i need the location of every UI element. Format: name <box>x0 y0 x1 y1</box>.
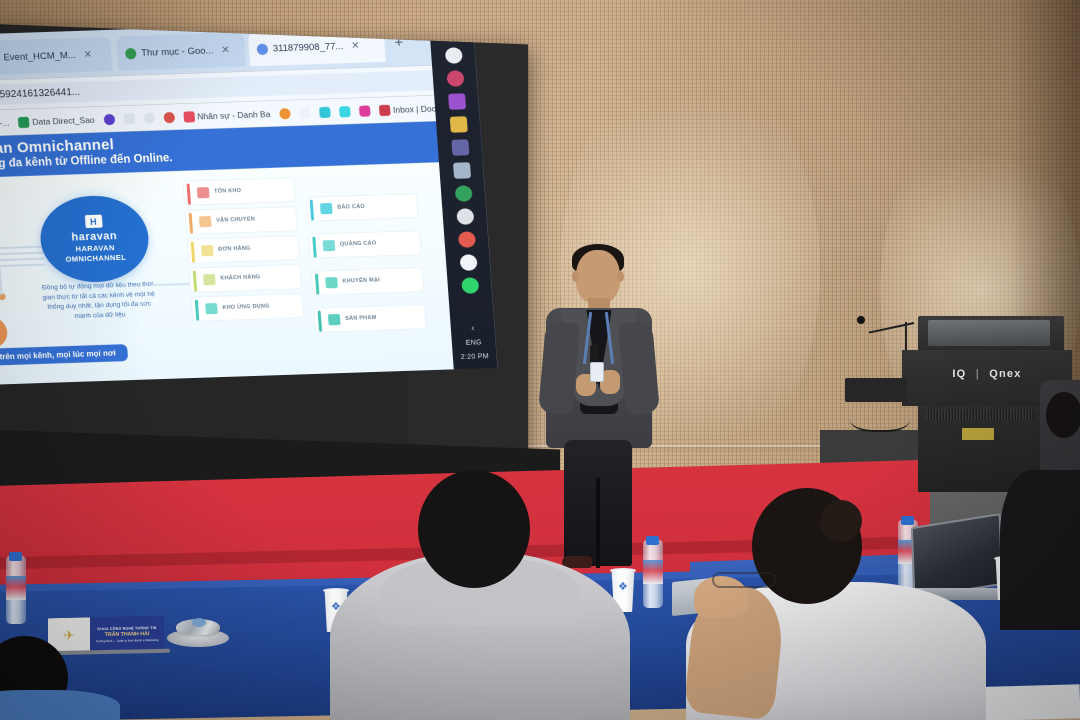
browser-active-icon[interactable] <box>457 231 475 248</box>
teams-icon[interactable] <box>451 139 469 156</box>
brand-divider: | <box>976 368 980 380</box>
warehouse-icon <box>197 187 210 198</box>
onenote-icon[interactable] <box>448 93 466 110</box>
megaphone-icon <box>323 240 336 251</box>
edge-icon[interactable] <box>456 208 474 225</box>
bookmark-window-icon[interactable] <box>123 113 135 124</box>
feature-label: ĐƠN HÀNG <box>218 246 251 254</box>
feature-don-hang: ĐƠN HÀNG <box>186 235 300 264</box>
lectern-brand: IQ | Qnex <box>902 368 1072 380</box>
feature-ton-kho: TỒN KHO <box>182 177 296 206</box>
product-icon <box>328 314 341 325</box>
mic-pole <box>905 322 907 352</box>
feature-label: KHUYẾN MẠI <box>342 278 380 286</box>
av-equipment-box <box>845 378 907 402</box>
presenter-id-badge <box>590 362 604 382</box>
bottle-cap <box>9 552 22 561</box>
feature-quang-cao: QUẢNG CÁO <box>308 230 422 259</box>
tab-label: 311879908_77... <box>272 41 343 54</box>
bookmark-label: Nhân sự - Danh Ba <box>197 109 271 121</box>
presentation-room-scene: Event_HCM_M... ✕ Thư mục - Goo... ✕ 3118… <box>0 0 1080 720</box>
feature-khach-hang: KHÁCH HÀNG <box>189 264 303 293</box>
bookmark-app-icon[interactable] <box>339 106 351 117</box>
tray-expand-icon[interactable]: ‹ <box>471 323 475 333</box>
projection-screen: Event_HCM_M... ✕ Thư mục - Goo... ✕ 3118… <box>0 24 528 483</box>
language-indicator[interactable]: ENG <box>466 339 483 347</box>
order-icon <box>201 245 214 256</box>
bookmark-label: Toàn Sao -... <box>0 117 10 129</box>
gooseneck-mic-icon <box>857 316 865 324</box>
connector-line <box>0 267 2 295</box>
eyeglasses-icon <box>712 572 776 588</box>
bookmark-video-icon[interactable] <box>359 105 371 116</box>
bird-logo-icon: ✈ <box>64 628 75 644</box>
lectern-badge <box>962 428 994 440</box>
presenter-arm-right <box>618 321 660 416</box>
browser-tab-0[interactable]: Event_HCM_M... ✕ <box>0 37 112 75</box>
messenger-icon[interactable] <box>459 254 477 271</box>
explorer-icon[interactable] <box>449 116 467 133</box>
close-icon[interactable]: ✕ <box>83 49 92 60</box>
laptop-screen <box>911 513 1003 599</box>
hub-logo-text: haravan <box>71 230 117 244</box>
feature-label: SẢN PHẨM <box>345 315 377 323</box>
bottle-cap <box>901 516 914 525</box>
haravan-logo-icon: H <box>84 215 102 229</box>
cable <box>850 402 910 432</box>
bookmark-favicon-icon <box>183 111 195 122</box>
feature-column-right: BÁO CÁO QUẢNG CÁO KHUYẾN MẠI SẢN PH <box>305 193 427 337</box>
office-icon[interactable] <box>446 70 464 87</box>
audience-person-right-dark <box>1000 470 1080 630</box>
taskbar-spacer <box>471 301 472 316</box>
slide-diagram: PHÁT TRIỂN WEBSITE LOYALTY & CUSTOMER EN… <box>0 161 497 377</box>
whatsapp-icon[interactable] <box>461 277 479 294</box>
bottle-label <box>6 576 26 600</box>
chrome-icon[interactable] <box>454 185 472 202</box>
report-icon <box>320 203 333 214</box>
search-icon[interactable] <box>444 47 462 64</box>
cup-logo-icon: ❖ <box>618 580 628 593</box>
presenter-ear-right <box>617 271 624 282</box>
feature-bao-cao: BÁO CÁO <box>305 193 419 222</box>
audience-head-left <box>418 470 530 588</box>
placard-role: Trưởng khoa — Quản trị kinh doanh & Mark… <box>96 638 159 643</box>
taskbar-clock[interactable]: 2:20 PM <box>461 353 490 361</box>
brand-iq: IQ <box>952 368 966 380</box>
files-icon[interactable] <box>452 162 470 179</box>
audience-body-bottom-left <box>0 690 120 720</box>
shipping-icon <box>199 216 212 227</box>
placard-text: KHOA CÔNG NGHỆ THÔNG TIN TRẦN THANH HẢI … <box>90 616 164 654</box>
feature-khuyen-mai: KHUYẾN MẠI <box>311 267 425 296</box>
presenter-leg-split <box>596 478 600 568</box>
feature-column-left: TỒN KHO VẬN CHUYỂN ĐƠN HÀNG KHÁCH H <box>182 177 304 326</box>
bookmark-cafe-icon[interactable] <box>299 107 311 118</box>
bookmark-gear-icon[interactable] <box>279 108 291 119</box>
audience-head-far-right <box>1046 392 1080 438</box>
bubble-marketing: MARKETING <box>0 317 8 349</box>
browser-tab-1[interactable]: Thư mục - Goo... ✕ <box>116 32 246 70</box>
hub-to-columns-line <box>152 283 190 286</box>
presenter-ear-left <box>572 271 579 282</box>
lectern-monitor <box>928 320 1050 346</box>
bookmark-item-0[interactable]: Toàn Sao -... <box>0 117 10 130</box>
hub-name-line2: OMNICHANNEL <box>65 253 126 264</box>
feature-label: QUẢNG CÁO <box>340 241 377 249</box>
bottle-cap <box>646 536 659 545</box>
audience-hair-bun <box>820 500 862 542</box>
feature-van-chuyen: VẬN CHUYỂN <box>184 206 298 235</box>
bookmark-favicon-icon <box>18 116 30 127</box>
bookmark-tag-icon[interactable] <box>319 106 331 117</box>
tab-favicon-icon <box>125 48 137 59</box>
presentation-slide: Haravan Omnichannel Bán hàng đa kênh từ … <box>0 120 498 386</box>
bookmark-item-2[interactable]: Nhân sự - Danh Ba <box>183 108 271 122</box>
app-store-icon <box>205 303 218 314</box>
bookmark-drive-icon[interactable] <box>163 111 175 122</box>
bookmark-dot-icon[interactable] <box>103 113 115 124</box>
hub-name-line1: HARAVAN <box>75 243 115 253</box>
bookmark-favicon-icon <box>379 104 391 115</box>
feature-label: KHÁCH HÀNG <box>220 275 261 283</box>
close-icon[interactable]: ✕ <box>221 44 230 55</box>
bookmark-camera-icon[interactable] <box>143 112 155 123</box>
feature-label: TỒN KHO <box>214 188 242 196</box>
feature-label: VẬN CHUYỂN <box>216 217 255 225</box>
bookmark-item-1[interactable]: Data Direct_Sao <box>18 114 95 128</box>
slide-bottom-banner: Bán hàng trên mọi kênh, mọi lúc mọi nơi <box>0 344 128 367</box>
tab-favicon-icon <box>256 43 268 54</box>
hub-description: Đồng bộ tự động mọi dữ liệu theo thời gi… <box>40 280 158 322</box>
presenter-head <box>576 250 620 304</box>
lectern-vent <box>926 410 1034 420</box>
close-icon[interactable]: ✕ <box>351 40 360 51</box>
dish-blue-item <box>192 618 206 627</box>
tab-label: Event_HCM_M... <box>3 50 76 63</box>
customer-icon <box>203 274 216 285</box>
feature-label: BÁO CÁO <box>337 204 365 212</box>
placard-name: TRẦN THANH HẢI <box>105 631 149 638</box>
brand-qnex: Qnex <box>989 368 1021 380</box>
promotion-icon <box>325 277 338 288</box>
bookmark-label: Data Direct_Sao <box>32 115 95 127</box>
feature-label: KHO ỨNG DỤNG <box>222 303 270 311</box>
browser-window: Event_HCM_M... ✕ Thư mục - Goo... ✕ 3118… <box>0 24 498 386</box>
feature-kho-ung-dung: KHO ỨNG DỤNG <box>191 293 305 322</box>
feature-san-pham: SẢN PHẨM <box>313 304 427 333</box>
presenter <box>528 238 668 568</box>
bottle-label <box>643 560 663 584</box>
tab-label: Thư mục - Goo... <box>141 45 214 58</box>
